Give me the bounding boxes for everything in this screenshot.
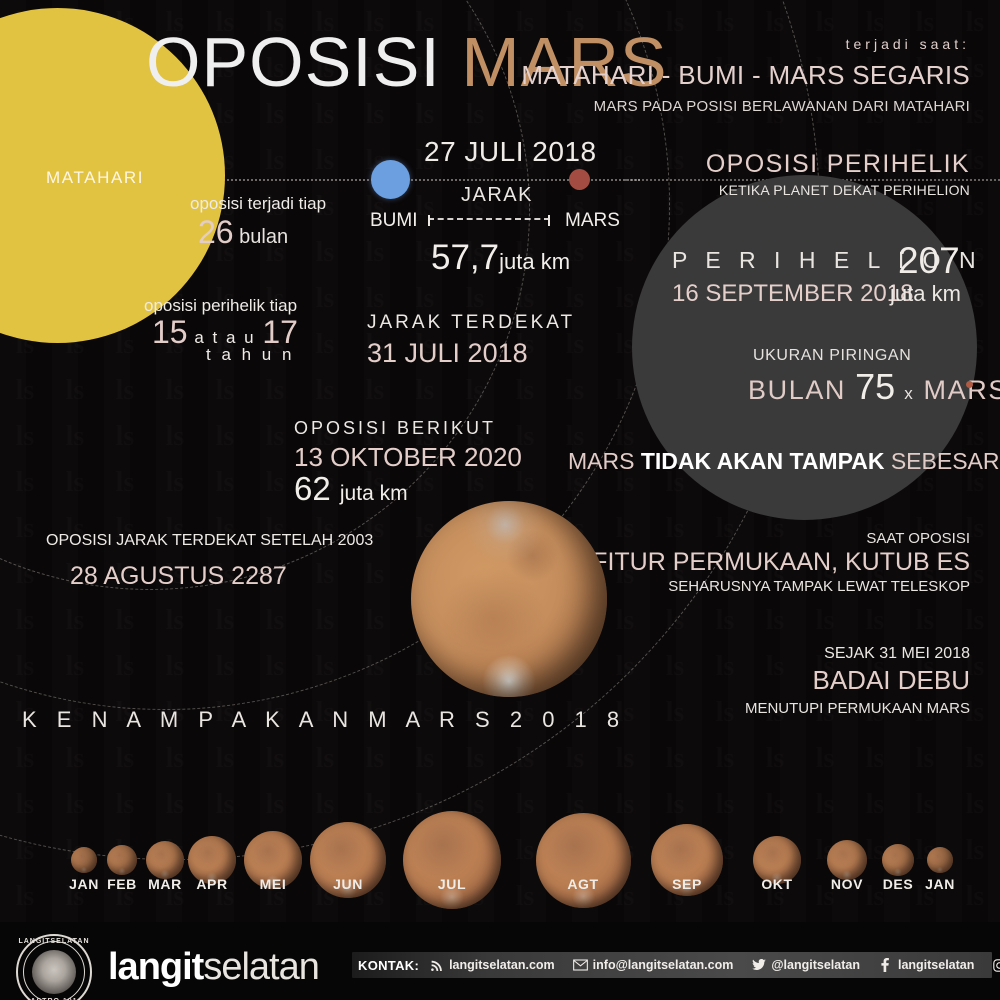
footer-bar: LANGITSELATAN ASTRO 101 langitselatan KO… xyxy=(0,922,1000,1000)
perihelic-period-min: 15 xyxy=(152,314,188,350)
contact-item[interactable]: langitselatan.com xyxy=(429,958,555,973)
statement-bold: TIDAK AKAN TAMPAK xyxy=(641,448,885,474)
facebook-icon xyxy=(878,958,893,973)
next-opposition-distance-row: 62 juta km xyxy=(294,470,408,508)
dust-storm-line-3: MENUTUPI PERMUKAAN MARS xyxy=(745,700,970,717)
surface-line-2: FITUR PERMUKAAN, KUTUB ES xyxy=(592,548,970,577)
moon-word: BULAN xyxy=(748,375,846,405)
contact-item[interactable]: info@langitselatan.com xyxy=(573,958,734,973)
contact-handle: @langitselatan xyxy=(771,958,860,972)
month-label: APR xyxy=(196,876,227,892)
mars-size-disc xyxy=(71,847,97,873)
month-label: SEP xyxy=(672,876,702,892)
month-label: JAN xyxy=(925,876,955,892)
closest-distance-title: JARAK TERDEKAT xyxy=(367,312,575,334)
twitter-icon xyxy=(751,958,766,973)
mars-size-disc xyxy=(107,845,137,875)
mars-size-disc xyxy=(882,844,914,876)
mars-size-disc xyxy=(146,841,184,879)
sequence-title: K E N A M P A K A N M A R S 2 0 1 8 xyxy=(22,707,626,733)
sun-label: MATAHARI xyxy=(46,168,144,188)
logo-top-text: LANGITSELATAN xyxy=(16,938,92,945)
mars-size-disc xyxy=(827,840,867,880)
statement-post: SEBESAR BULAN xyxy=(884,448,1000,474)
infographic-canvas: lslslslslslslslslslslslslslslslslslslsls… xyxy=(0,0,1000,1000)
perihelion-date: 16 SEPTEMBER 2018 xyxy=(672,280,913,308)
mars-size-disc xyxy=(927,847,953,873)
mars-disc-small xyxy=(569,169,590,190)
month-label: JAN xyxy=(69,876,99,892)
contact-item[interactable]: @langitselatan xyxy=(751,958,860,973)
next-opposition-distance-value: 62 xyxy=(294,470,331,507)
surface-line-1: SAAT OPOSISI xyxy=(866,530,970,547)
rss-icon xyxy=(429,958,444,973)
header-alignment-line: MATAHARI - BUMI - MARS SEGARIS xyxy=(521,60,970,91)
next-opposition-date: 13 OKTOBER 2020 xyxy=(294,442,522,473)
contact-handle: langitselatan.com xyxy=(449,958,555,972)
perihelic-period-unit: t a h u n xyxy=(206,345,294,365)
perihelion-distance-unit: juta km xyxy=(890,281,961,307)
closest-distance-date: 31 JULI 2018 xyxy=(367,338,528,369)
instagram-icon xyxy=(992,958,1000,973)
contact-bar: KONTAK: langitselatan.cominfo@langitsela… xyxy=(352,952,992,978)
contact-label: KONTAK: xyxy=(358,958,419,973)
month-label: OKT xyxy=(761,876,792,892)
closest-after-2003-title: OPOSISI JARAK TERDEKAT SETELAH 2003 xyxy=(46,532,373,550)
distance-measure-bar xyxy=(428,218,550,220)
brand-wordmark: langitselatan xyxy=(108,946,319,989)
surface-line-3: SEHARUSNYA TAMPAK LEWAT TELESKOP xyxy=(668,578,970,595)
mars-size-sequence xyxy=(0,760,1000,870)
brand-langit: langit xyxy=(108,946,203,988)
perihelic-opposition-title: OPOSISI PERIHELIK xyxy=(706,150,970,179)
mars-not-as-big-statement: MARS TIDAK AKAN TAMPAK SEBESAR BULAN xyxy=(568,448,1000,475)
moon-vs-mars-row: BULAN 75 x MARS xyxy=(748,366,1000,408)
times-symbol: x xyxy=(904,384,914,403)
title-part-oposisi: OPOSISI xyxy=(146,23,441,101)
month-label: FEB xyxy=(107,876,137,892)
langitselatan-logo: LANGITSELATAN ASTRO 101 xyxy=(16,934,92,1000)
earth-disc xyxy=(371,160,410,199)
sequence-month-labels: JANFEBMARAPRMEIJUNJULAGTSEPOKTNOVDESJAN xyxy=(0,876,1000,896)
opposition-period-unit: bulan xyxy=(239,226,288,248)
next-opposition-title: OPOSISI BERIKUT xyxy=(294,418,496,439)
distance-unit: juta km xyxy=(499,249,570,274)
perihelion-distance-value: 207 xyxy=(898,240,960,282)
header-terjadi-saat: terjadi saat: xyxy=(846,36,970,52)
mars-word: MARS xyxy=(924,375,1000,405)
earth-label: BUMI xyxy=(370,210,418,232)
month-label: JUL xyxy=(438,876,466,892)
contact-item[interactable]: langitselatan xyxy=(878,958,974,973)
month-label: MAR xyxy=(148,876,182,892)
mars-label: MARS xyxy=(565,210,620,232)
contact-handle: langitselatan xyxy=(898,958,974,972)
opposition-period-label: oposisi terjadi tiap xyxy=(190,194,326,214)
size-factor: 75 xyxy=(855,366,895,407)
month-label: JUN xyxy=(333,876,363,892)
perihelic-opposition-subtitle: KETIKA PLANET DEKAT PERIHELION xyxy=(719,182,970,198)
month-label: NOV xyxy=(831,876,863,892)
mars-hero-image xyxy=(411,501,607,697)
perihelic-period-label: oposisi perihelik tiap xyxy=(144,296,297,316)
distance-row: 57,7juta km xyxy=(431,238,570,278)
distance-value: 57,7 xyxy=(431,238,499,277)
email-icon xyxy=(573,958,588,973)
contact-item[interactable]: langitselatanmedia xyxy=(992,958,1000,973)
header-opposite-line: MARS PADA POSISI BERLAWANAN DARI MATAHAR… xyxy=(594,98,970,115)
opposition-period-value: 26 xyxy=(198,214,234,250)
month-label: DES xyxy=(883,876,914,892)
contact-list: langitselatan.cominfo@langitselatan.com@… xyxy=(429,958,1000,973)
disc-size-label: UKURAN PIRINGAN xyxy=(753,347,911,365)
month-label: MEI xyxy=(260,876,287,892)
dust-storm-line-1: SEJAK 31 MEI 2018 xyxy=(824,645,970,663)
opposition-period-row: 26 bulan xyxy=(198,214,288,251)
distance-label: JARAK xyxy=(461,184,533,207)
closest-after-2003-date: 28 AGUSTUS 2287 xyxy=(70,562,287,591)
dust-storm-line-2: BADAI DEBU xyxy=(813,665,971,696)
brand-selatan: selatan xyxy=(203,946,319,988)
statement-pre: MARS xyxy=(568,448,641,474)
opposition-date: 27 JULI 2018 xyxy=(424,136,597,168)
month-label: AGT xyxy=(567,876,598,892)
logo-centaur-emblem xyxy=(32,950,76,994)
contact-handle: info@langitselatan.com xyxy=(593,958,734,972)
mars-size-dot xyxy=(966,381,973,388)
next-opposition-distance-unit: juta km xyxy=(340,482,408,505)
